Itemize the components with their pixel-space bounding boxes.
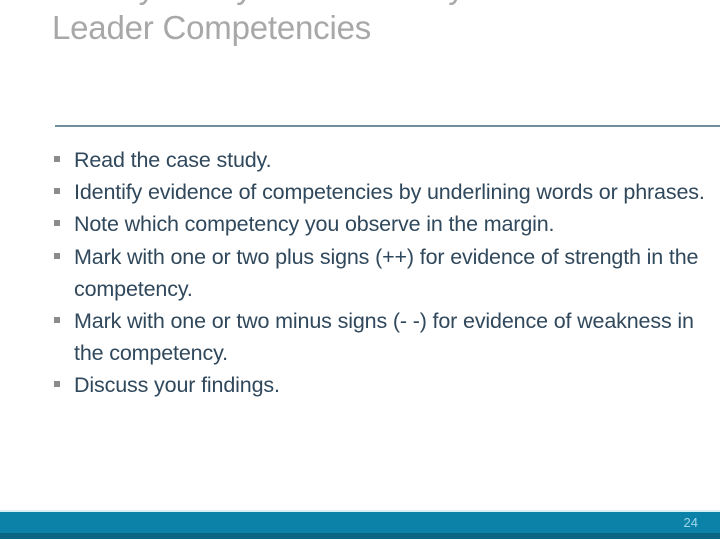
list-item: Read the case study. bbox=[48, 144, 708, 176]
title-divider-rule bbox=[55, 125, 720, 127]
square-bullet-icon bbox=[54, 188, 60, 194]
list-item: Mark with one or two plus signs (++) for… bbox=[48, 241, 708, 305]
list-item: Discuss your findings. bbox=[48, 369, 708, 401]
slide-title: Activity: Analyze Case Study for Turnaro… bbox=[52, 0, 702, 48]
list-item-text: Discuss your findings. bbox=[74, 369, 708, 401]
square-bullet-icon bbox=[54, 317, 60, 323]
footer-accent-bar bbox=[0, 512, 720, 533]
square-bullet-icon bbox=[54, 253, 60, 259]
list-item-text: Mark with one or two plus signs (++) for… bbox=[74, 241, 708, 305]
square-bullet-icon bbox=[54, 220, 60, 226]
footer-accent-bar-dark bbox=[0, 533, 720, 539]
slide-canvas: Activity: Analyze Case Study for Turnaro… bbox=[0, 0, 720, 540]
list-item-text: Identify evidence of competencies by und… bbox=[74, 176, 708, 208]
list-item: Mark with one or two minus signs (- -) f… bbox=[48, 305, 708, 369]
list-item-text: Read the case study. bbox=[74, 144, 708, 176]
bullet-list: Read the case study. Identify evidence o… bbox=[48, 144, 708, 402]
slide-number: 24 bbox=[684, 515, 698, 531]
square-bullet-icon bbox=[54, 156, 60, 162]
list-item-text: Note which competency you observe in the… bbox=[74, 208, 708, 240]
list-item: Identify evidence of competencies by und… bbox=[48, 176, 708, 208]
list-item: Note which competency you observe in the… bbox=[48, 208, 708, 240]
square-bullet-icon bbox=[54, 381, 60, 387]
list-item-text: Mark with one or two minus signs (- -) f… bbox=[74, 305, 708, 369]
